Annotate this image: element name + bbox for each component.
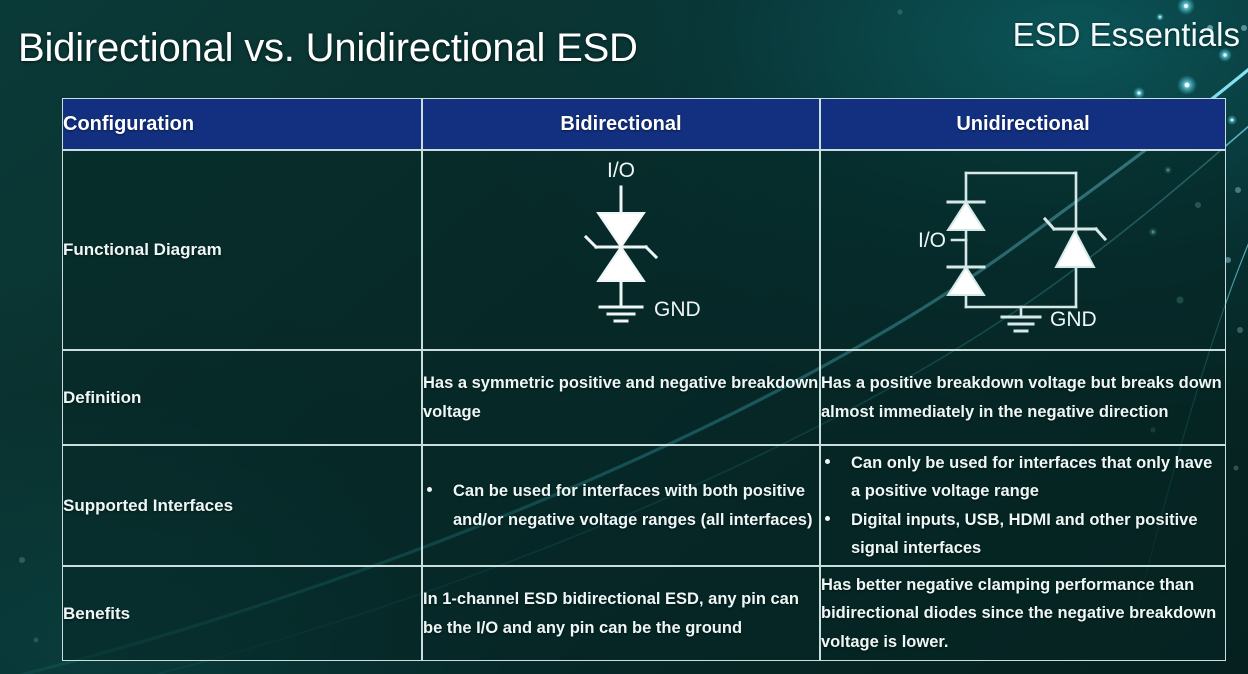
page-title: Bidirectional vs. Unidirectional ESD xyxy=(18,26,638,71)
table-row-benefits: Benefits In 1-channel ESD bidirectional … xyxy=(62,566,1226,661)
table-row-supported-interfaces: Supported Interfaces Can be used for int… xyxy=(62,445,1226,566)
column-header-configuration: Configuration xyxy=(62,98,422,150)
table-header: Configuration Bidirectional Unidirection… xyxy=(62,98,1226,150)
row-label-supported-interfaces: Supported Interfaces xyxy=(62,445,422,566)
bullet-list-unidirectional: Can only be used for interfaces that onl… xyxy=(821,449,1225,563)
row-label-definition: Definition xyxy=(62,350,422,445)
gnd-label: GND xyxy=(654,298,701,321)
unidirectional-esd-diagram: I/O xyxy=(888,155,1158,345)
column-header-unidirectional: Unidirectional xyxy=(820,98,1226,150)
bullet-dot-icon xyxy=(825,516,830,521)
interfaces-bidirectional: Can be used for interfaces with both pos… xyxy=(422,445,820,566)
bullet-list-bidirectional: Can be used for interfaces with both pos… xyxy=(423,477,819,534)
row-label-functional-diagram: Functional Diagram xyxy=(62,150,422,350)
bullet-dot-icon xyxy=(825,459,830,464)
io-label: I/O xyxy=(918,229,946,252)
row-label-benefits: Benefits xyxy=(62,566,422,661)
bullet-dot-icon xyxy=(427,487,432,492)
list-item-label: Can be used for interfaces with both pos… xyxy=(453,482,812,528)
bidirectional-tvs-diode-diagram: I/O xyxy=(506,155,736,345)
definition-unidirectional: Has a positive breakdown voltage but bre… xyxy=(820,350,1226,445)
slide-header: Bidirectional vs. Unidirectional ESD ESD… xyxy=(0,0,1248,92)
deck-label: ESD Essentials xyxy=(1013,16,1240,54)
interfaces-unidirectional: Can only be used for interfaces that onl… xyxy=(820,445,1226,566)
definition-bidirectional: Has a symmetric positive and negative br… xyxy=(422,350,820,445)
table-header-row: Configuration Bidirectional Unidirection… xyxy=(62,98,1226,150)
list-item-label: Can only be used for interfaces that onl… xyxy=(851,454,1212,500)
list-item: Can only be used for interfaces that onl… xyxy=(821,449,1225,506)
list-item: Digital inputs, USB, HDMI and other posi… xyxy=(821,506,1225,563)
list-item: Can be used for interfaces with both pos… xyxy=(423,477,819,534)
table-row-definition: Definition Has a symmetric positive and … xyxy=(62,350,1226,445)
list-item-label: Digital inputs, USB, HDMI and other posi… xyxy=(851,511,1198,557)
table-body: Functional Diagram I/O xyxy=(62,150,1226,661)
unidirectional-diagram-cell: I/O xyxy=(820,150,1226,350)
gnd-label: GND xyxy=(1050,308,1097,331)
io-label: I/O xyxy=(607,159,635,182)
benefits-unidirectional: Has better negative clamping performance… xyxy=(820,566,1226,661)
benefits-bidirectional: In 1-channel ESD bidirectional ESD, any … xyxy=(422,566,820,661)
slide-canvas: Bidirectional vs. Unidirectional ESD ESD… xyxy=(0,0,1248,674)
bidirectional-diagram-cell: I/O xyxy=(422,150,820,350)
comparison-table: Configuration Bidirectional Unidirection… xyxy=(62,98,1226,661)
table-row-functional-diagram: Functional Diagram I/O xyxy=(62,150,1226,350)
column-header-bidirectional: Bidirectional xyxy=(422,98,820,150)
